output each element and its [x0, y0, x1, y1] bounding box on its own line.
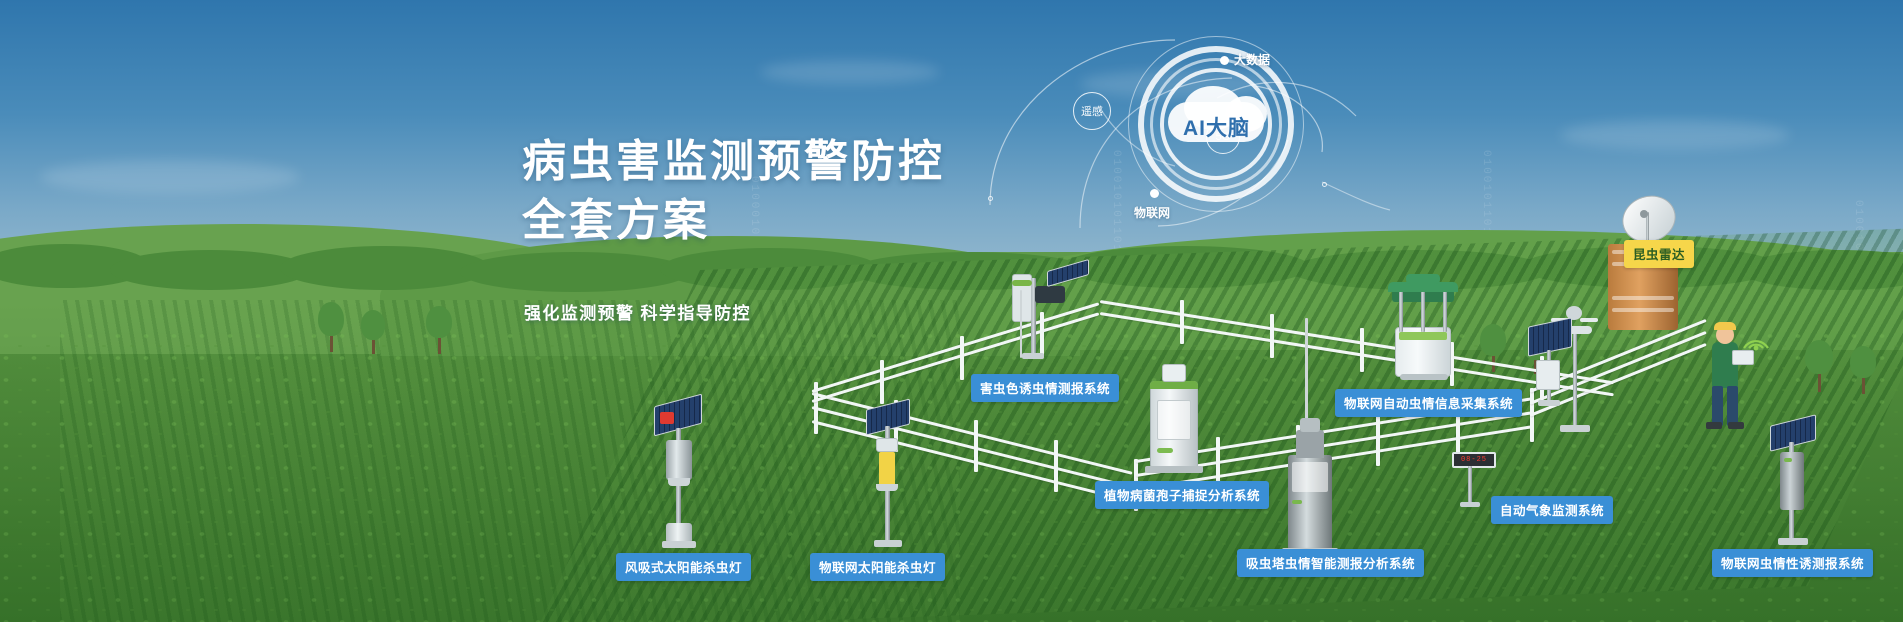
page-title: 病虫害监测预警防控 全套方案 [522, 133, 945, 250]
cloud-shape [40, 160, 300, 194]
cloud-shape [760, 60, 940, 84]
wifi-icon [1742, 326, 1772, 352]
orbit-endpoint-dot [1322, 182, 1327, 187]
label-wind-suction-solar-lamp[interactable]: 风吸式太阳能杀虫灯 [616, 553, 751, 581]
hedge-shape [280, 246, 490, 290]
ai-brain-label: AI大脑 [1183, 112, 1250, 142]
label-plant-spore-capture[interactable]: 植物病菌孢子捕捉分析系统 [1095, 481, 1269, 509]
ai-brain-diagram: AI大脑 遥感 大数据 5G 物联网 [970, 30, 1390, 230]
node-remote-sensing[interactable]: 遥感 [1073, 92, 1111, 130]
node-remote-sensing-label: 遥感 [1081, 103, 1103, 119]
scene-illustration: 01000101101101 01001010110101 0100101101… [0, 0, 1903, 622]
label-iot-auto-pest-info-collect[interactable]: 物联网自动虫情信息采集系统 [1335, 389, 1522, 417]
node-iot-dot [1150, 189, 1159, 198]
node-iot-label[interactable]: 物联网 [1134, 204, 1170, 221]
label-suction-tower[interactable]: 吸虫塔虫情智能测报分析系统 [1237, 549, 1424, 577]
cloud-shape [1560, 120, 1790, 150]
page-title-line2: 全套方案 [522, 192, 945, 251]
orbit-endpoint-dot [988, 196, 993, 201]
hedge-shape [460, 252, 690, 292]
led-text: 08-25 [1461, 456, 1487, 464]
label-insect-radar[interactable]: 昆虫雷达 [1624, 240, 1694, 268]
label-color-lure-pest-forecast[interactable]: 害虫色诱虫情测报系统 [971, 374, 1119, 402]
page-subtitle: 强化监测预警 科学指导防控 [524, 299, 751, 324]
label-iot-solar-lamp[interactable]: 物联网太阳能杀虫灯 [810, 553, 945, 581]
label-iot-pheromone-forecast[interactable]: 物联网虫情性诱测报系统 [1712, 549, 1873, 577]
node-big-data-dot [1220, 56, 1229, 65]
page-title-line1: 病虫害监测预警防控 [522, 137, 945, 186]
node-big-data-label[interactable]: 大数据 [1234, 51, 1270, 68]
label-auto-weather-monitoring[interactable]: 自动气象监测系统 [1491, 496, 1613, 524]
